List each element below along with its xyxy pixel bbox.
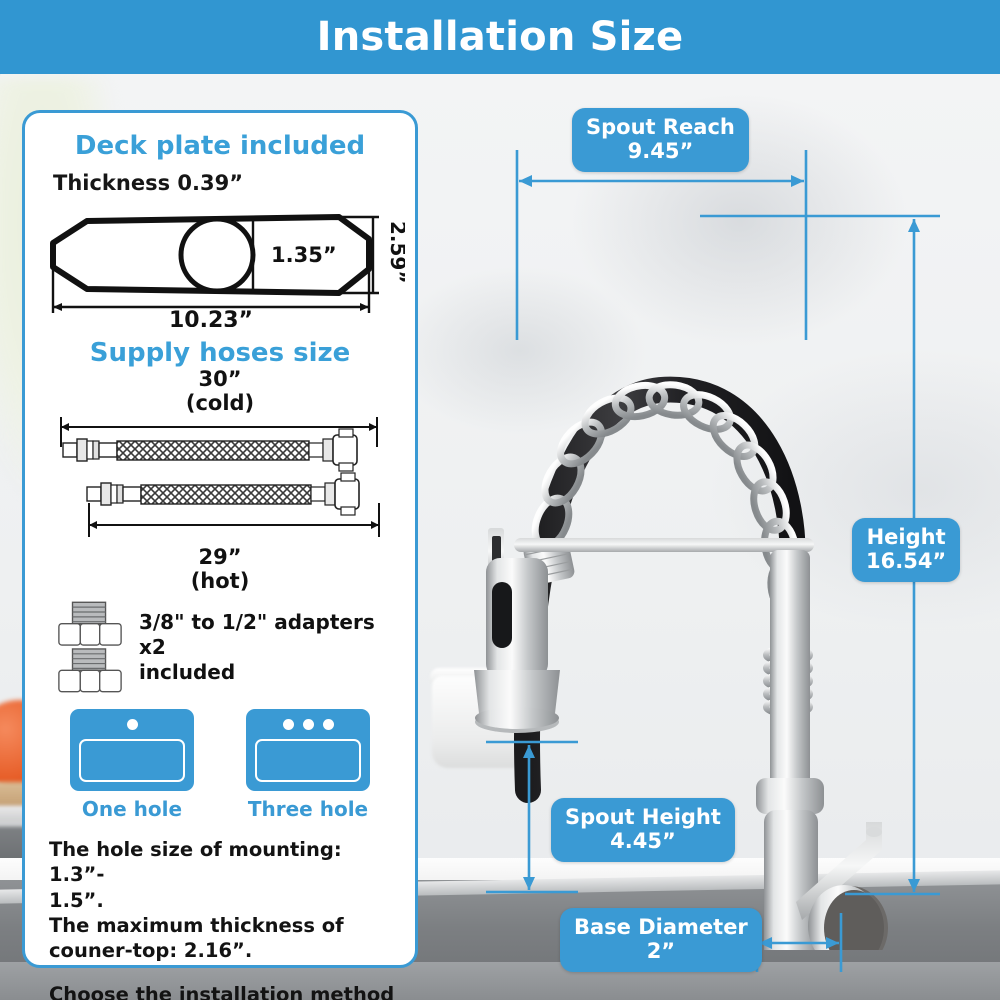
hot-hose-length: 29”: [39, 546, 401, 570]
note-line-2: 1.5”.: [49, 888, 401, 913]
note-line-5: Choose the installation method: [49, 982, 401, 1000]
hole-dot: [127, 719, 138, 730]
supply-hoses-drawing: [39, 417, 405, 541]
note-line-1: The hole size of mounting: 1.3”-: [49, 837, 401, 888]
supply-hoses-title: Supply hoses size: [39, 338, 401, 368]
deck-thickness-label: Thickness 0.39”: [53, 171, 401, 195]
callout-base-diameter: Base Diameter 2”: [560, 908, 762, 972]
callout-base-diameter-label: Base Diameter: [574, 916, 748, 940]
three-hole-basin-icon: [246, 709, 370, 791]
mounting-options: One hole Three hole: [39, 709, 401, 821]
page-title: Installation Size: [317, 14, 684, 60]
one-hole-dots: [70, 719, 194, 730]
one-hole-option[interactable]: One hole: [70, 709, 194, 821]
callout-height-value: 16.54”: [866, 550, 946, 574]
deck-plate-drawing: 1.35” 2.59” 10.23”: [39, 199, 405, 327]
installation-notes: The hole size of mounting: 1.3”- 1.5”. T…: [49, 837, 401, 1000]
deck-hole-dim: 1.35”: [271, 243, 337, 267]
callout-spout-reach-value: 9.45”: [586, 140, 735, 164]
basin-bowl: [255, 739, 361, 782]
hole-dot: [303, 719, 314, 730]
adapter-icon: [55, 599, 127, 695]
note-line-3: The maximum thickness of: [49, 913, 401, 938]
hot-hose-caption: (hot): [39, 570, 401, 594]
spec-panel: Deck plate included Thickness 0.39” 1.35…: [22, 110, 418, 968]
header-bar: Installation Size: [0, 0, 1000, 74]
infographic-root: Installation Size Deck plate included Th…: [0, 0, 1000, 1000]
three-hole-dots: [246, 719, 370, 730]
cold-hose-length: 30”: [39, 368, 401, 392]
adapters-line-2: included: [139, 660, 401, 685]
three-hole-option[interactable]: Three hole: [246, 709, 370, 821]
hole-dot: [323, 719, 334, 730]
one-hole-basin-icon: [70, 709, 194, 791]
deck-plate-title: Deck plate included: [39, 131, 401, 161]
deck-height-dim: 2.59”: [386, 221, 405, 284]
note-spacer: [49, 964, 401, 982]
one-hole-caption: One hole: [70, 797, 194, 821]
callout-base-diameter-value: 2”: [574, 940, 748, 964]
cold-hose-caption: (cold): [39, 392, 401, 416]
deck-width-dim: 10.23”: [169, 308, 253, 327]
callout-spout-reach: Spout Reach 9.45”: [572, 108, 749, 172]
callout-spout-reach-label: Spout Reach: [586, 116, 735, 140]
three-hole-caption: Three hole: [246, 797, 370, 821]
hole-dot: [283, 719, 294, 730]
note-line-4: couner-top: 2.16”.: [49, 938, 401, 963]
adapters-row: 3/8" to 1/2" adapters x2 included: [55, 599, 401, 695]
adapters-text: 3/8" to 1/2" adapters x2 included: [139, 610, 401, 685]
callout-spout-height: Spout Height 4.45”: [551, 798, 735, 862]
callout-height: Height 16.54”: [852, 518, 960, 582]
callout-height-label: Height: [866, 526, 946, 550]
callout-spout-height-value: 4.45”: [565, 830, 721, 854]
basin-bowl: [79, 739, 185, 782]
adapters-line-1: 3/8" to 1/2" adapters x2: [139, 610, 401, 660]
callout-spout-height-label: Spout Height: [565, 806, 721, 830]
